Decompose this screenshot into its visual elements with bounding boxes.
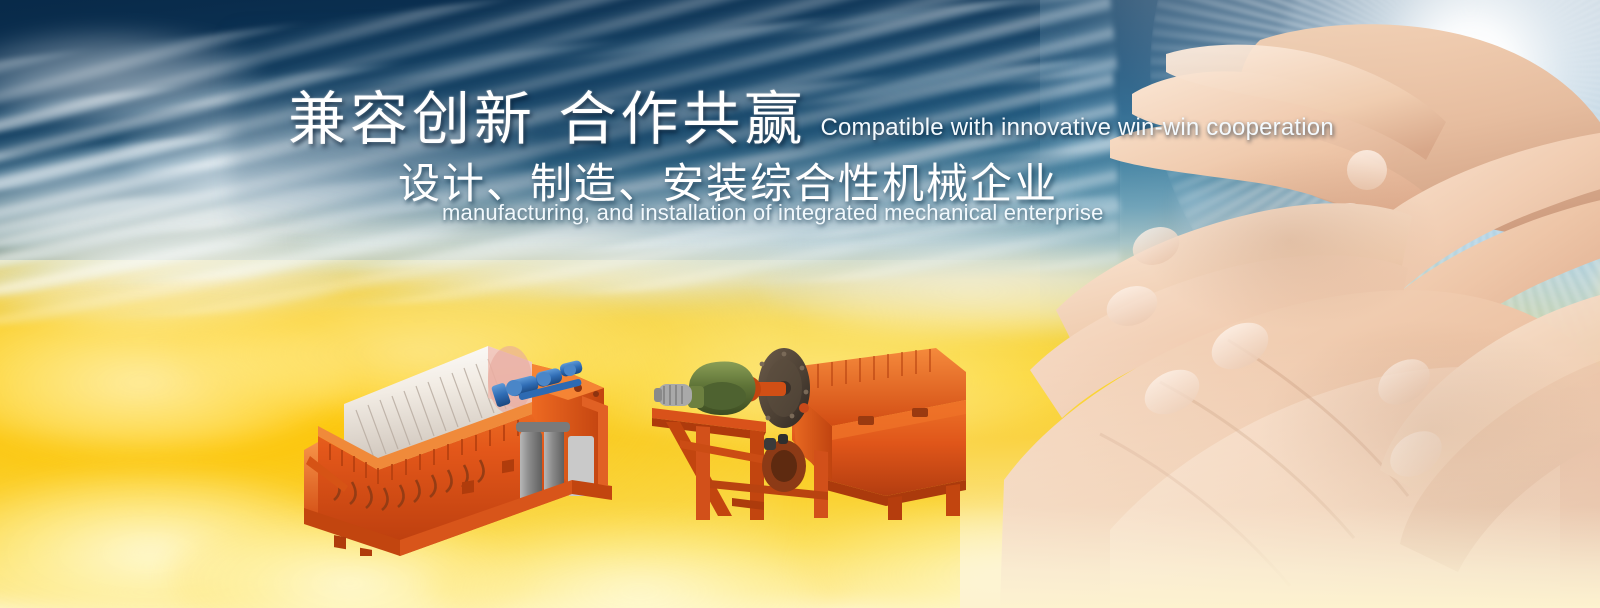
hero-banner: 兼容创新 合作共赢 Compatible with innovative win… [0, 0, 1600, 608]
headline-english: Compatible with innovative win-win coope… [820, 114, 1333, 142]
subheadline-english: manufacturing, and installation of integ… [442, 200, 1104, 226]
headline-chinese: 兼容创新 合作共赢 [288, 72, 806, 156]
headline-row: 兼容创新 合作共赢 Compatible with innovative win… [288, 72, 1334, 156]
ceramic-disc-vacuum-filter-icon [282, 318, 632, 556]
drum-magnetic-separator-icon [636, 330, 976, 520]
